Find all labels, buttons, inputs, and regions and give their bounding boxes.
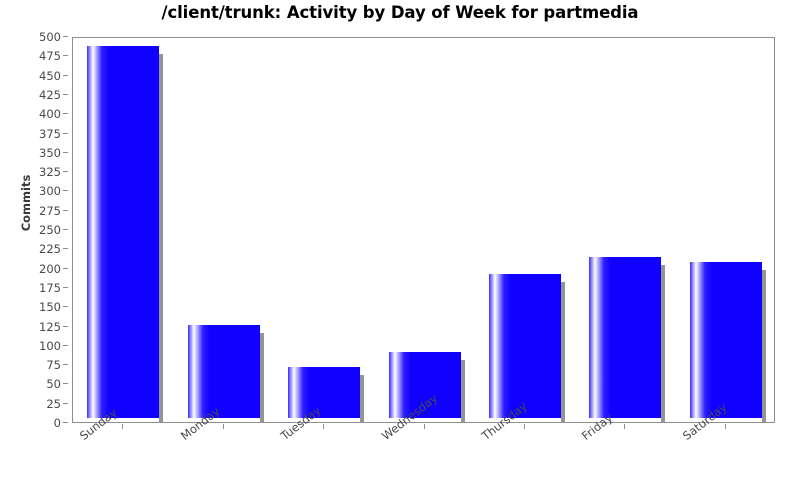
y-tick-mark — [63, 94, 68, 95]
y-tick: 175 — [0, 281, 72, 295]
bar-shadow — [260, 333, 264, 423]
y-tick-mark — [63, 36, 68, 37]
x-tick-mark — [624, 424, 625, 429]
y-tick: 25 — [0, 397, 72, 411]
y-tick-label: 225 — [39, 242, 61, 256]
y-tick-label: 100 — [39, 339, 61, 353]
y-tick-mark — [63, 229, 68, 230]
bar-shadow — [561, 282, 565, 423]
y-tick-label: 450 — [39, 69, 61, 83]
y-tick-label: 25 — [46, 397, 61, 411]
y-tick-label: 400 — [39, 107, 61, 121]
bar-chart: /client/trunk: Activity by Day of Week f… — [0, 0, 800, 500]
y-tick-mark — [63, 210, 68, 211]
y-tick-mark — [63, 422, 68, 423]
x-tick-mark — [725, 424, 726, 429]
y-tick-label: 0 — [54, 416, 61, 430]
y-tick-mark — [63, 403, 68, 404]
y-tick-label: 275 — [39, 204, 61, 218]
bar[interactable] — [188, 325, 260, 422]
y-tick: 375 — [0, 127, 72, 141]
bar[interactable] — [489, 274, 561, 422]
plot-area — [72, 37, 775, 423]
y-tick: 50 — [0, 377, 72, 391]
y-tick: 275 — [0, 204, 72, 218]
y-tick-label: 300 — [39, 184, 61, 198]
y-tick-mark — [63, 383, 68, 384]
y-tick-mark — [63, 55, 68, 56]
y-tick-label: 325 — [39, 165, 61, 179]
y-tick-mark — [63, 171, 68, 172]
y-tick-mark — [63, 268, 68, 269]
y-tick-mark — [63, 326, 68, 327]
y-tick-mark — [63, 364, 68, 365]
y-tick-label: 75 — [46, 358, 61, 372]
y-tick: 100 — [0, 339, 72, 353]
bar-shadow — [661, 265, 665, 423]
y-tick-label: 50 — [46, 377, 61, 391]
bar[interactable] — [87, 46, 159, 422]
y-tick-mark — [63, 248, 68, 249]
y-tick-label: 500 — [39, 30, 61, 44]
bar-body — [87, 46, 159, 418]
y-tick-mark — [63, 190, 68, 191]
y-tick: 400 — [0, 107, 72, 121]
bar-body — [288, 367, 360, 418]
chart-title: /client/trunk: Activity by Day of Week f… — [0, 3, 800, 22]
y-tick: 475 — [0, 49, 72, 63]
y-tick: 450 — [0, 69, 72, 83]
bar-shadow — [762, 270, 766, 423]
y-tick-mark — [63, 306, 68, 307]
y-tick-label: 175 — [39, 281, 61, 295]
y-tick: 500 — [0, 30, 72, 44]
x-tick-mark — [223, 424, 224, 429]
y-tick: 75 — [0, 358, 72, 372]
y-tick: 125 — [0, 320, 72, 334]
y-tick-label: 250 — [39, 223, 61, 237]
y-tick-label: 375 — [39, 127, 61, 141]
bar-body — [589, 257, 661, 418]
y-tick-mark — [63, 75, 68, 76]
bar-shadow — [360, 375, 364, 423]
y-tick: 325 — [0, 165, 72, 179]
y-tick: 300 — [0, 184, 72, 198]
y-tick-label: 350 — [39, 146, 61, 160]
y-tick-mark — [63, 287, 68, 288]
y-tick: 200 — [0, 262, 72, 276]
y-tick: 225 — [0, 242, 72, 256]
x-tick-mark — [524, 424, 525, 429]
y-tick-label: 150 — [39, 300, 61, 314]
bar-body — [188, 325, 260, 418]
bar-shadow — [461, 360, 465, 423]
y-tick: 250 — [0, 223, 72, 237]
y-tick: 150 — [0, 300, 72, 314]
y-tick: 0 — [0, 416, 72, 430]
x-tick-mark — [122, 424, 123, 429]
bar-body — [690, 262, 762, 418]
y-tick: 350 — [0, 146, 72, 160]
y-tick-mark — [63, 133, 68, 134]
y-tick-label: 125 — [39, 320, 61, 334]
bar-shadow — [159, 54, 163, 423]
y-tick-label: 425 — [39, 88, 61, 102]
bar-body — [489, 274, 561, 418]
y-tick-mark — [63, 152, 68, 153]
y-tick-mark — [63, 345, 68, 346]
bar[interactable] — [690, 262, 762, 422]
y-tick-label: 200 — [39, 262, 61, 276]
y-tick-mark — [63, 113, 68, 114]
y-axis-label: Commits — [19, 163, 33, 243]
x-tick-mark — [424, 424, 425, 429]
y-tick-label: 475 — [39, 49, 61, 63]
y-tick: 425 — [0, 88, 72, 102]
bar[interactable] — [589, 257, 661, 422]
x-tick-mark — [323, 424, 324, 429]
